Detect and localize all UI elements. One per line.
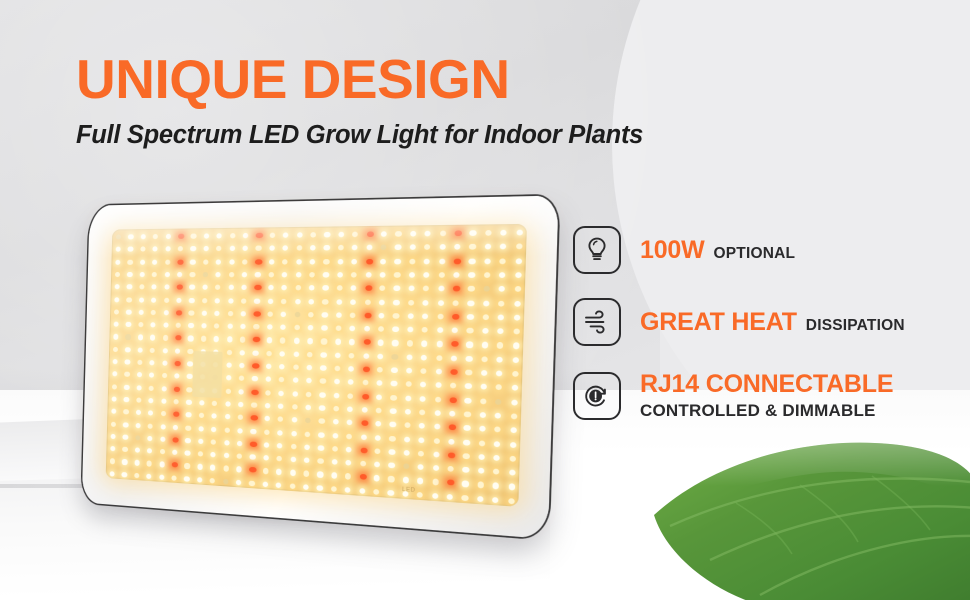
panel-logo: LED	[402, 487, 416, 495]
headline-block: UNIQUE DESIGN Full Spectrum LED Grow Lig…	[76, 52, 643, 150]
feature-text-wattage: 100W OPTIONAL	[640, 236, 795, 265]
led-panel-board: LED	[106, 224, 527, 507]
feature-row-wattage: 100W OPTIONAL	[573, 226, 963, 274]
lightbulb-icon	[573, 226, 621, 274]
product-stage: LED	[78, 196, 526, 516]
page-title: UNIQUE DESIGN	[76, 52, 643, 107]
feature-strong-label: 100W	[640, 236, 705, 265]
feature-row-rj14: RJ14 CONNECTABLE CONTROLLED & DIMMABLE	[573, 370, 963, 421]
led-panel-housing: LED	[82, 195, 559, 539]
feature-list: 100W OPTIONAL GREAT HEAT DISSIPATION	[573, 226, 963, 421]
feature-light-label: DISSIPATION	[806, 317, 905, 335]
wind-airflow-icon	[573, 298, 621, 346]
led-driver-chip	[192, 351, 222, 398]
product-banner: UNIQUE DESIGN Full Spectrum LED Grow Lig…	[0, 0, 970, 600]
feature-strong-label: GREAT HEAT	[640, 308, 797, 337]
feature-sub-label: CONTROLLED & DIMMABLE	[640, 401, 893, 421]
led-grid	[106, 224, 527, 507]
page-subtitle: Full Spectrum LED Grow Light for Indoor …	[76, 121, 643, 150]
dimmer-dial-icon	[573, 372, 621, 420]
product-perspective-wrapper: LED	[74, 183, 585, 557]
feature-text-heat: GREAT HEAT DISSIPATION	[640, 308, 905, 337]
feature-light-label: OPTIONAL	[714, 245, 796, 263]
feature-strong-label: RJ14 CONNECTABLE	[640, 370, 893, 399]
feature-text-rj14: RJ14 CONNECTABLE CONTROLLED & DIMMABLE	[640, 370, 893, 421]
feature-row-heat: GREAT HEAT DISSIPATION	[573, 298, 963, 346]
